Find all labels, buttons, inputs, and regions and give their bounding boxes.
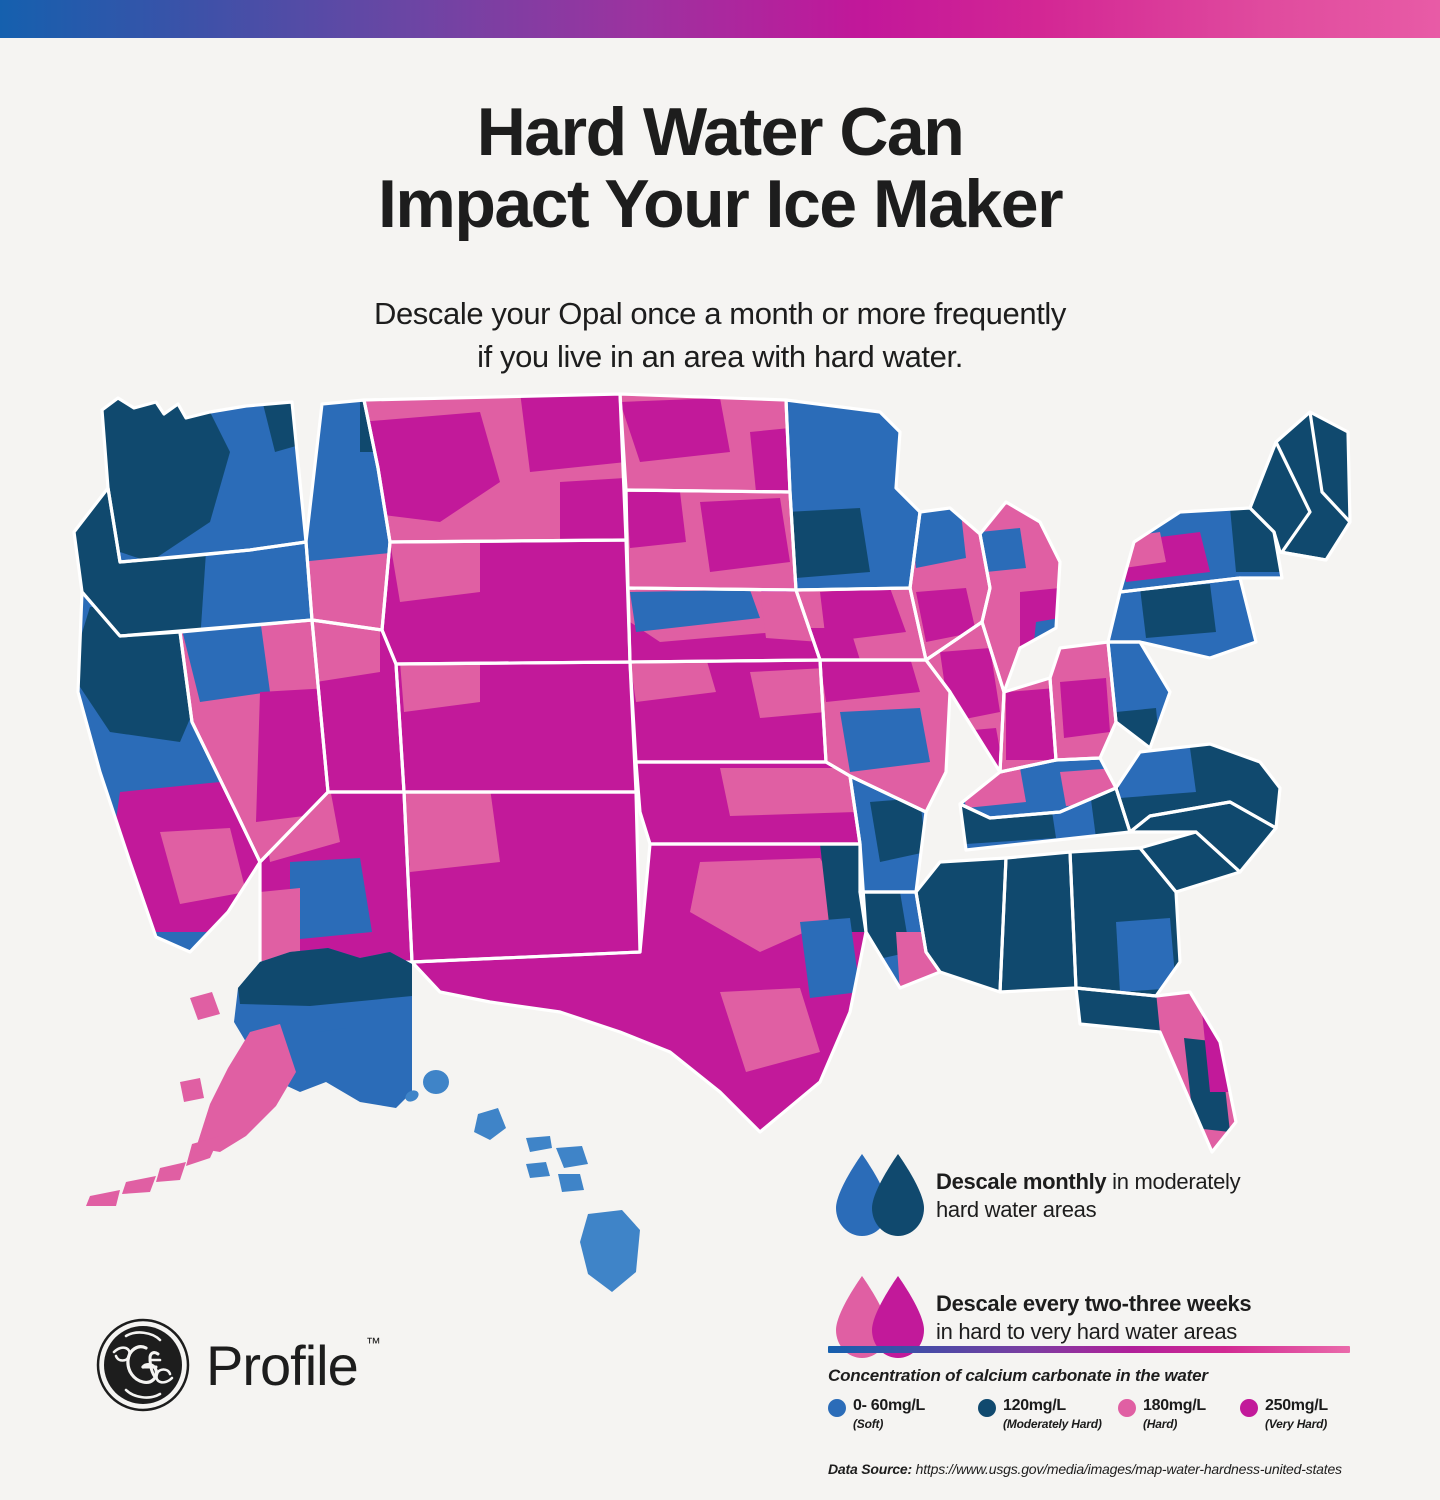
ge-monogram-icon [96, 1318, 190, 1412]
top-accent-bar [0, 0, 1440, 38]
page-title-line-2: Impact Your Ice Maker [0, 168, 1440, 240]
data-source-url: https://www.usgs.gov/media/images/map-wa… [912, 1461, 1342, 1477]
legend-line2-monthly: hard water areas [936, 1196, 1240, 1224]
legend-line2-biweekly: in hard to very hard water areas [936, 1318, 1251, 1346]
legend-value-very-hard: 250mg/L [1265, 1397, 1328, 1414]
legend-item-moderately-hard: 120mg/L (Moderately Hard) [978, 1397, 1118, 1433]
legend-item-very-hard: 250mg/L (Very Hard) [1240, 1397, 1350, 1433]
legend-dot-moderately-hard-icon [978, 1399, 996, 1417]
legend-bold-monthly: Descale monthly [936, 1169, 1106, 1194]
legend-item-soft: 0- 60mg/L (Soft) [828, 1397, 978, 1433]
profile-wordmark-text: Profile [206, 1334, 358, 1397]
region-hawaii [403, 1070, 640, 1292]
legend-row-moderately-hard: Descale monthly in moderately hard water… [828, 1150, 1358, 1242]
legend-value-soft: 0- 60mg/L [853, 1397, 925, 1414]
legend-dot-soft-icon [828, 1399, 846, 1417]
legend-text-hard: Descale every two-three weeks in hard to… [936, 1290, 1251, 1345]
legend-scale-items: 0- 60mg/L (Soft) 120mg/L (Moderately Har… [828, 1397, 1350, 1433]
trademark-symbol: ™ [366, 1335, 380, 1352]
legend-scale-title: Concentration of calcium carbonate in th… [828, 1366, 1350, 1386]
page-title-line-1: Hard Water Can [0, 96, 1440, 168]
legend-rest-monthly: in moderately [1106, 1169, 1240, 1194]
data-source: Data Source: https://www.usgs.gov/media/… [828, 1461, 1350, 1477]
legend-value-moderately-hard: 120mg/L [1003, 1397, 1066, 1414]
legend-value-hard: 180mg/L [1143, 1397, 1206, 1414]
region-alaska [86, 948, 412, 1206]
legend-dot-very-hard-icon [1240, 1399, 1258, 1417]
page-subtitle: Descale your Opal once a month or more f… [0, 293, 1440, 379]
legend-sub-very-hard: (Very Hard) [1265, 1417, 1327, 1431]
legend-gradient-divider [828, 1346, 1350, 1353]
legend-bold-biweekly: Descale every two-three weeks [936, 1291, 1251, 1316]
ge-profile-logo: Profile ™ [96, 1318, 358, 1412]
page-subtitle-line-2: if you live in an area with hard water. [0, 336, 1440, 379]
page-title: Hard Water Can Impact Your Ice Maker [0, 96, 1440, 240]
page-subtitle-line-1: Descale your Opal once a month or more f… [0, 293, 1440, 336]
legend-item-hard: 180mg/L (Hard) [1118, 1397, 1240, 1433]
concentration-scale-legend: Concentration of calcium carbonate in th… [828, 1346, 1350, 1477]
water-drop-pair-blue-icon [828, 1150, 936, 1242]
legend-text-moderately-hard: Descale monthly in moderately hard water… [936, 1168, 1240, 1223]
profile-wordmark: Profile ™ [206, 1333, 358, 1398]
legend-sub-moderately-hard: (Moderately Hard) [1003, 1417, 1102, 1431]
data-source-label: Data Source: [828, 1461, 912, 1477]
legend-dot-hard-icon [1118, 1399, 1136, 1417]
legend-sub-soft: (Soft) [853, 1417, 883, 1431]
legend-sub-hard: (Hard) [1143, 1417, 1177, 1431]
